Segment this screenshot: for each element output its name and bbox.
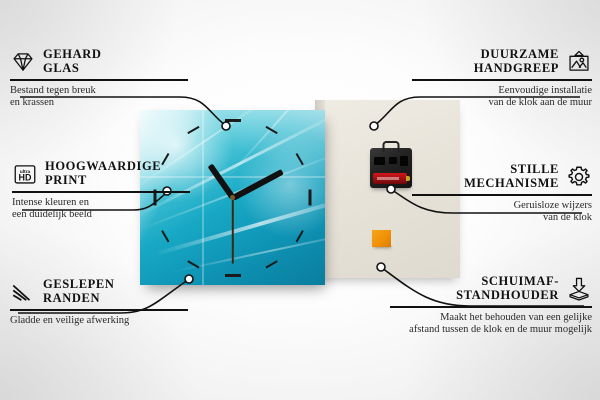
movement-slot [389,157,397,164]
feature-hoogwaardige-print[interactable]: ultra HD HOOGWAARDIGE PRINT Intense kleu… [12,160,190,221]
feature-subtitle: Eenvoudige installatie van de klok aan d… [412,85,592,109]
movement-slot [400,156,408,166]
feature-header: ultra HD HOOGWAARDIGE PRINT [12,160,190,187]
movement-slot [374,157,385,165]
clock-movement-box [370,148,412,188]
second-hand [232,197,234,263]
clock-center-pin [230,195,235,200]
glass-seam [202,110,204,285]
feature-header: DUURZAME HANDGREEP [412,48,592,75]
svg-text:HD: HD [19,172,32,182]
feature-divider [412,79,592,81]
foam-spacer [372,230,391,247]
hanging-picture-frame-icon [566,49,592,75]
clock-tick [225,274,241,277]
feature-subtitle: Intense kleuren en een duidelijk beeld [12,197,190,221]
feature-subtitle: Geruisloze wijzers van de klok [412,200,592,224]
feature-divider [10,309,188,311]
feature-title: HOOGWAARDIGE PRINT [45,160,161,187]
feature-subtitle: Maakt het behouden van een gelijke afsta… [390,312,592,336]
feature-subtitle: Bestand tegen breuk en krassen [10,85,188,109]
clock-tick [161,230,170,242]
feature-title: GESLEPEN RANDEN [43,278,115,305]
feature-stille-mechanisme[interactable]: STILLE MECHANISME Geruisloze wijzers van… [412,163,592,224]
feature-divider [10,79,188,81]
battery [373,173,407,184]
press-down-pad-icon [566,276,592,302]
feature-subtitle: Gladde en veilige afwerking [10,315,188,327]
feature-header: GEHARD GLAS [10,48,188,75]
feature-duurzame-handgreep[interactable]: DUURZAME HANDGREEP Eenvoudige installati… [412,48,592,109]
feature-divider [412,194,592,196]
feature-geslepen-randen[interactable]: GESLEPEN RANDEN Gladde en veilige afwerk… [10,278,188,327]
diagonal-lines-icon [10,279,36,305]
clock-tick [265,260,277,269]
battery-stripe [377,177,399,180]
feature-header: GESLEPEN RANDEN [10,278,188,305]
infographic-canvas: GEHARD GLAS Bestand tegen breuk en krass… [0,0,600,400]
clock-tick [225,119,241,122]
feature-divider [12,191,190,193]
clock-tick [309,190,312,206]
gear-icon [566,164,592,190]
feature-title: GEHARD GLAS [43,48,101,75]
feature-title: STILLE MECHANISME [464,163,559,190]
feature-divider [390,306,592,308]
hanging-hook-icon [383,141,400,152]
feature-title: DUURZAME HANDGREEP [474,48,559,75]
ultra-hd-badge-icon: ultra HD [12,161,38,187]
feature-title: SCHUIMAF- STANDHOUDER [456,275,559,302]
feature-header: STILLE MECHANISME [412,163,592,190]
feature-schuimaf-standhouder[interactable]: SCHUIMAF- STANDHOUDER Maakt het behouden… [390,275,592,336]
feature-header: SCHUIMAF- STANDHOUDER [390,275,592,302]
diamond-icon [10,49,36,75]
feature-gehard-glas[interactable]: GEHARD GLAS Bestand tegen breuk en krass… [10,48,188,109]
